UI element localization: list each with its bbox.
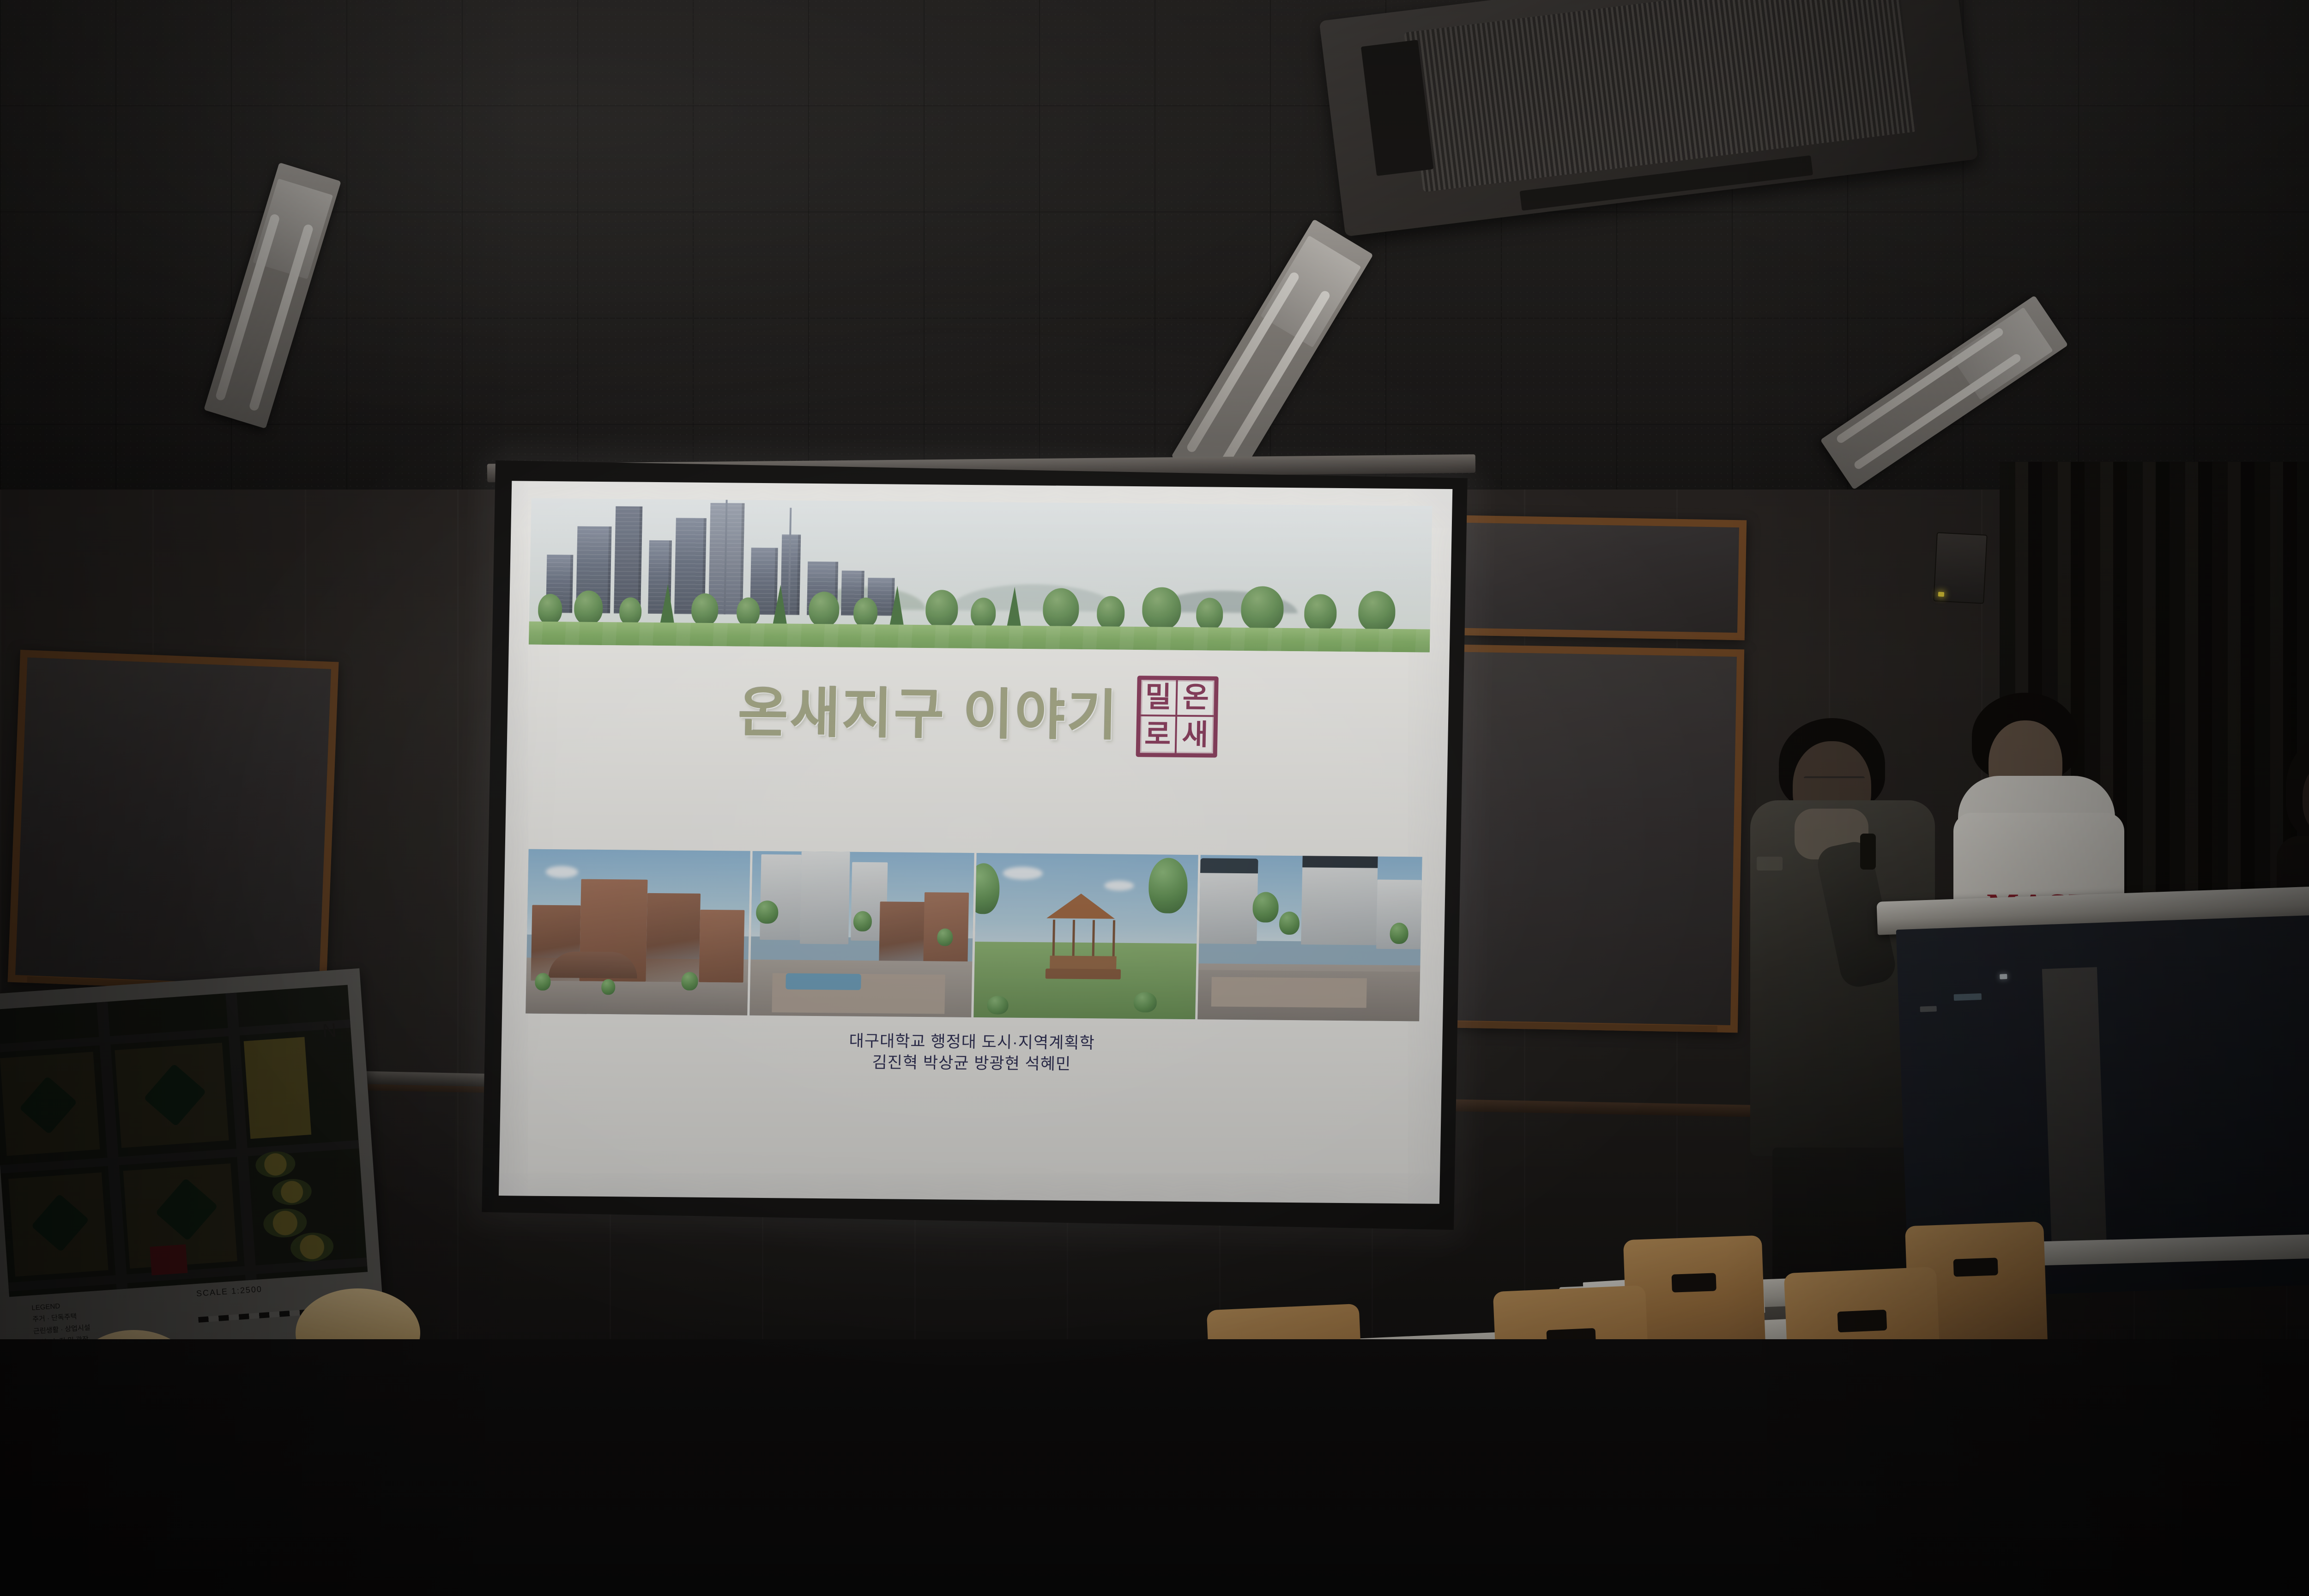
banner-tree-row (529, 554, 1431, 632)
slide-title-row: 온새지구 이야기 밀 온 로 새 (507, 670, 1449, 760)
master-plan-map: N (0, 985, 368, 1297)
sleeve-patch (1757, 857, 1783, 871)
slide-title: 온새지구 이야기 (737, 686, 1119, 744)
photo-brick-buildings-with-skybridge (526, 849, 750, 1016)
slide-caption: 대구대학교 행정대 도시·지역계획학 김진혁 박상균 방광현 석혜민 (501, 1028, 1443, 1078)
podium-center-panel (2042, 967, 2107, 1250)
ac-grille (1404, 0, 1917, 192)
floor (0, 1339, 2309, 1596)
photo-street-with-mansard-roof-buildings (1197, 855, 1422, 1022)
projection-screen[interactable]: 온새지구 이야기 밀 온 로 새 (482, 460, 1467, 1230)
master-plan-scale-label: SCALE 1:2500 (196, 1284, 262, 1299)
chair-handle-slot (1672, 1273, 1717, 1292)
seal-char-bottom-right: 새 (1177, 717, 1214, 754)
seal-char-top-right: 온 (1177, 680, 1214, 717)
podium-small-label (1920, 1006, 1937, 1012)
lecture-hall-scene: 온새지구 이야기 밀 온 로 새 (0, 0, 2309, 1596)
podium-led-indicator (2000, 974, 2007, 979)
microphone-icon (1860, 834, 1876, 870)
chair-handle-slot (1838, 1310, 1887, 1332)
eyeglasses-icon (1804, 776, 1865, 788)
seal-char-top-left: 밀 (1141, 680, 1178, 717)
slide-canvas: 온새지구 이야기 밀 온 로 새 (499, 481, 1452, 1204)
whiteboard-left[interactable] (7, 650, 338, 994)
photo-wooden-gazebo-in-park (973, 853, 1198, 1019)
north-arrow-icon: N (322, 1020, 337, 1040)
photo-apartment-towers-with-water-plaza (750, 851, 974, 1017)
chair-handle-slot (1953, 1258, 1998, 1277)
screen-border: 온새지구 이야기 밀 온 로 새 (482, 460, 1467, 1230)
wall-speaker-icon (1933, 532, 1988, 604)
slide-photo-strip (526, 849, 1422, 1022)
podium-label-plate (1953, 993, 1981, 1001)
seal-char-bottom-left: 로 (1140, 716, 1177, 753)
speaker-led-indicator (1938, 592, 1945, 597)
korean-seal-stamp-icon: 밀 온 로 새 (1136, 676, 1218, 758)
slide-banner-image (529, 498, 1433, 653)
